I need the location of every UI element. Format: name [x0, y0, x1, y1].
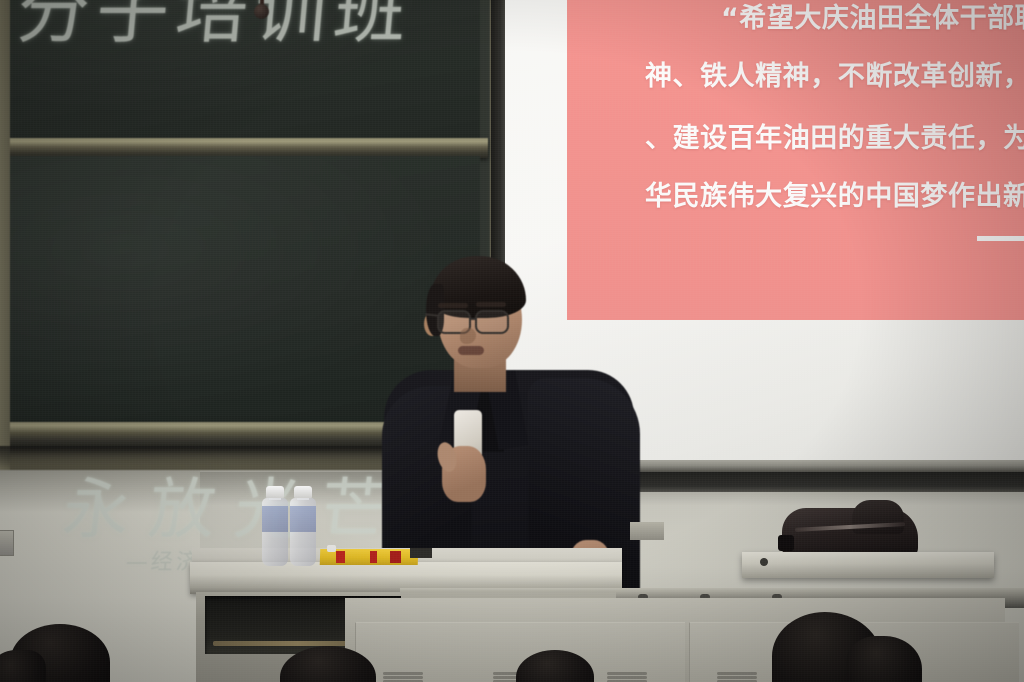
wall-fixture-center: [630, 522, 664, 540]
desk-small-object: [410, 548, 432, 558]
blackboard-upper-panel: 分子培训班: [2, 0, 480, 140]
speaker-left-eyebrow: [438, 303, 468, 308]
slide-line-2: 神、铁人精神，不断改革创新，推动: [645, 54, 1024, 93]
speaker-hair: [430, 256, 526, 318]
water-bottle-1-cap: [266, 486, 284, 498]
blackboard-top-text: 分子培训班: [13, 0, 418, 57]
side-table-screw: [760, 558, 768, 566]
blackboard-middle-ledge: [0, 138, 488, 158]
lecture-hall-photo: 分子培训班 永放光芒 —经济管理学院学生党建工作 “希望大庆油田全体干部职工不忘…: [0, 0, 1024, 682]
cabinet-vent: [717, 672, 757, 675]
slide-line-1: “希望大庆油田全体干部职工不忘: [721, 0, 1024, 35]
yellow-case-tip: [327, 545, 336, 552]
blackboard-hanger-weight: [254, 4, 269, 19]
speaker-right-eyebrow: [476, 302, 506, 307]
yellow-case-accent: [390, 551, 401, 563]
backpack-clip: [778, 535, 794, 551]
water-bottle-2-label: [290, 506, 316, 532]
yellow-case-accent: [336, 551, 345, 563]
cabinet-vent: [383, 672, 423, 675]
water-bottle-1-label: [262, 506, 288, 532]
speaker-mouth: [458, 346, 484, 355]
slide-attribution-dash: [977, 236, 1024, 241]
slide-line-3: 、建设百年油田的重大责任，为实现: [645, 116, 1024, 155]
backpack-top-pocket: [852, 500, 904, 534]
glasses-right-lens: [475, 310, 509, 334]
blackboard-headline-text: 永放光芒: [59, 456, 412, 552]
blackboard-left-frame: [0, 0, 10, 470]
wall-fixture-left: [0, 530, 14, 556]
slide-line-4: 华民族伟大复兴的中国梦作出新的更: [645, 174, 1024, 213]
water-bottle-2-cap: [294, 486, 312, 498]
cabinet-vent: [607, 672, 647, 675]
yellow-case-accent: [370, 551, 377, 563]
glasses-bridge: [470, 318, 477, 320]
audience-head: [0, 650, 46, 682]
side-table: [742, 552, 994, 578]
